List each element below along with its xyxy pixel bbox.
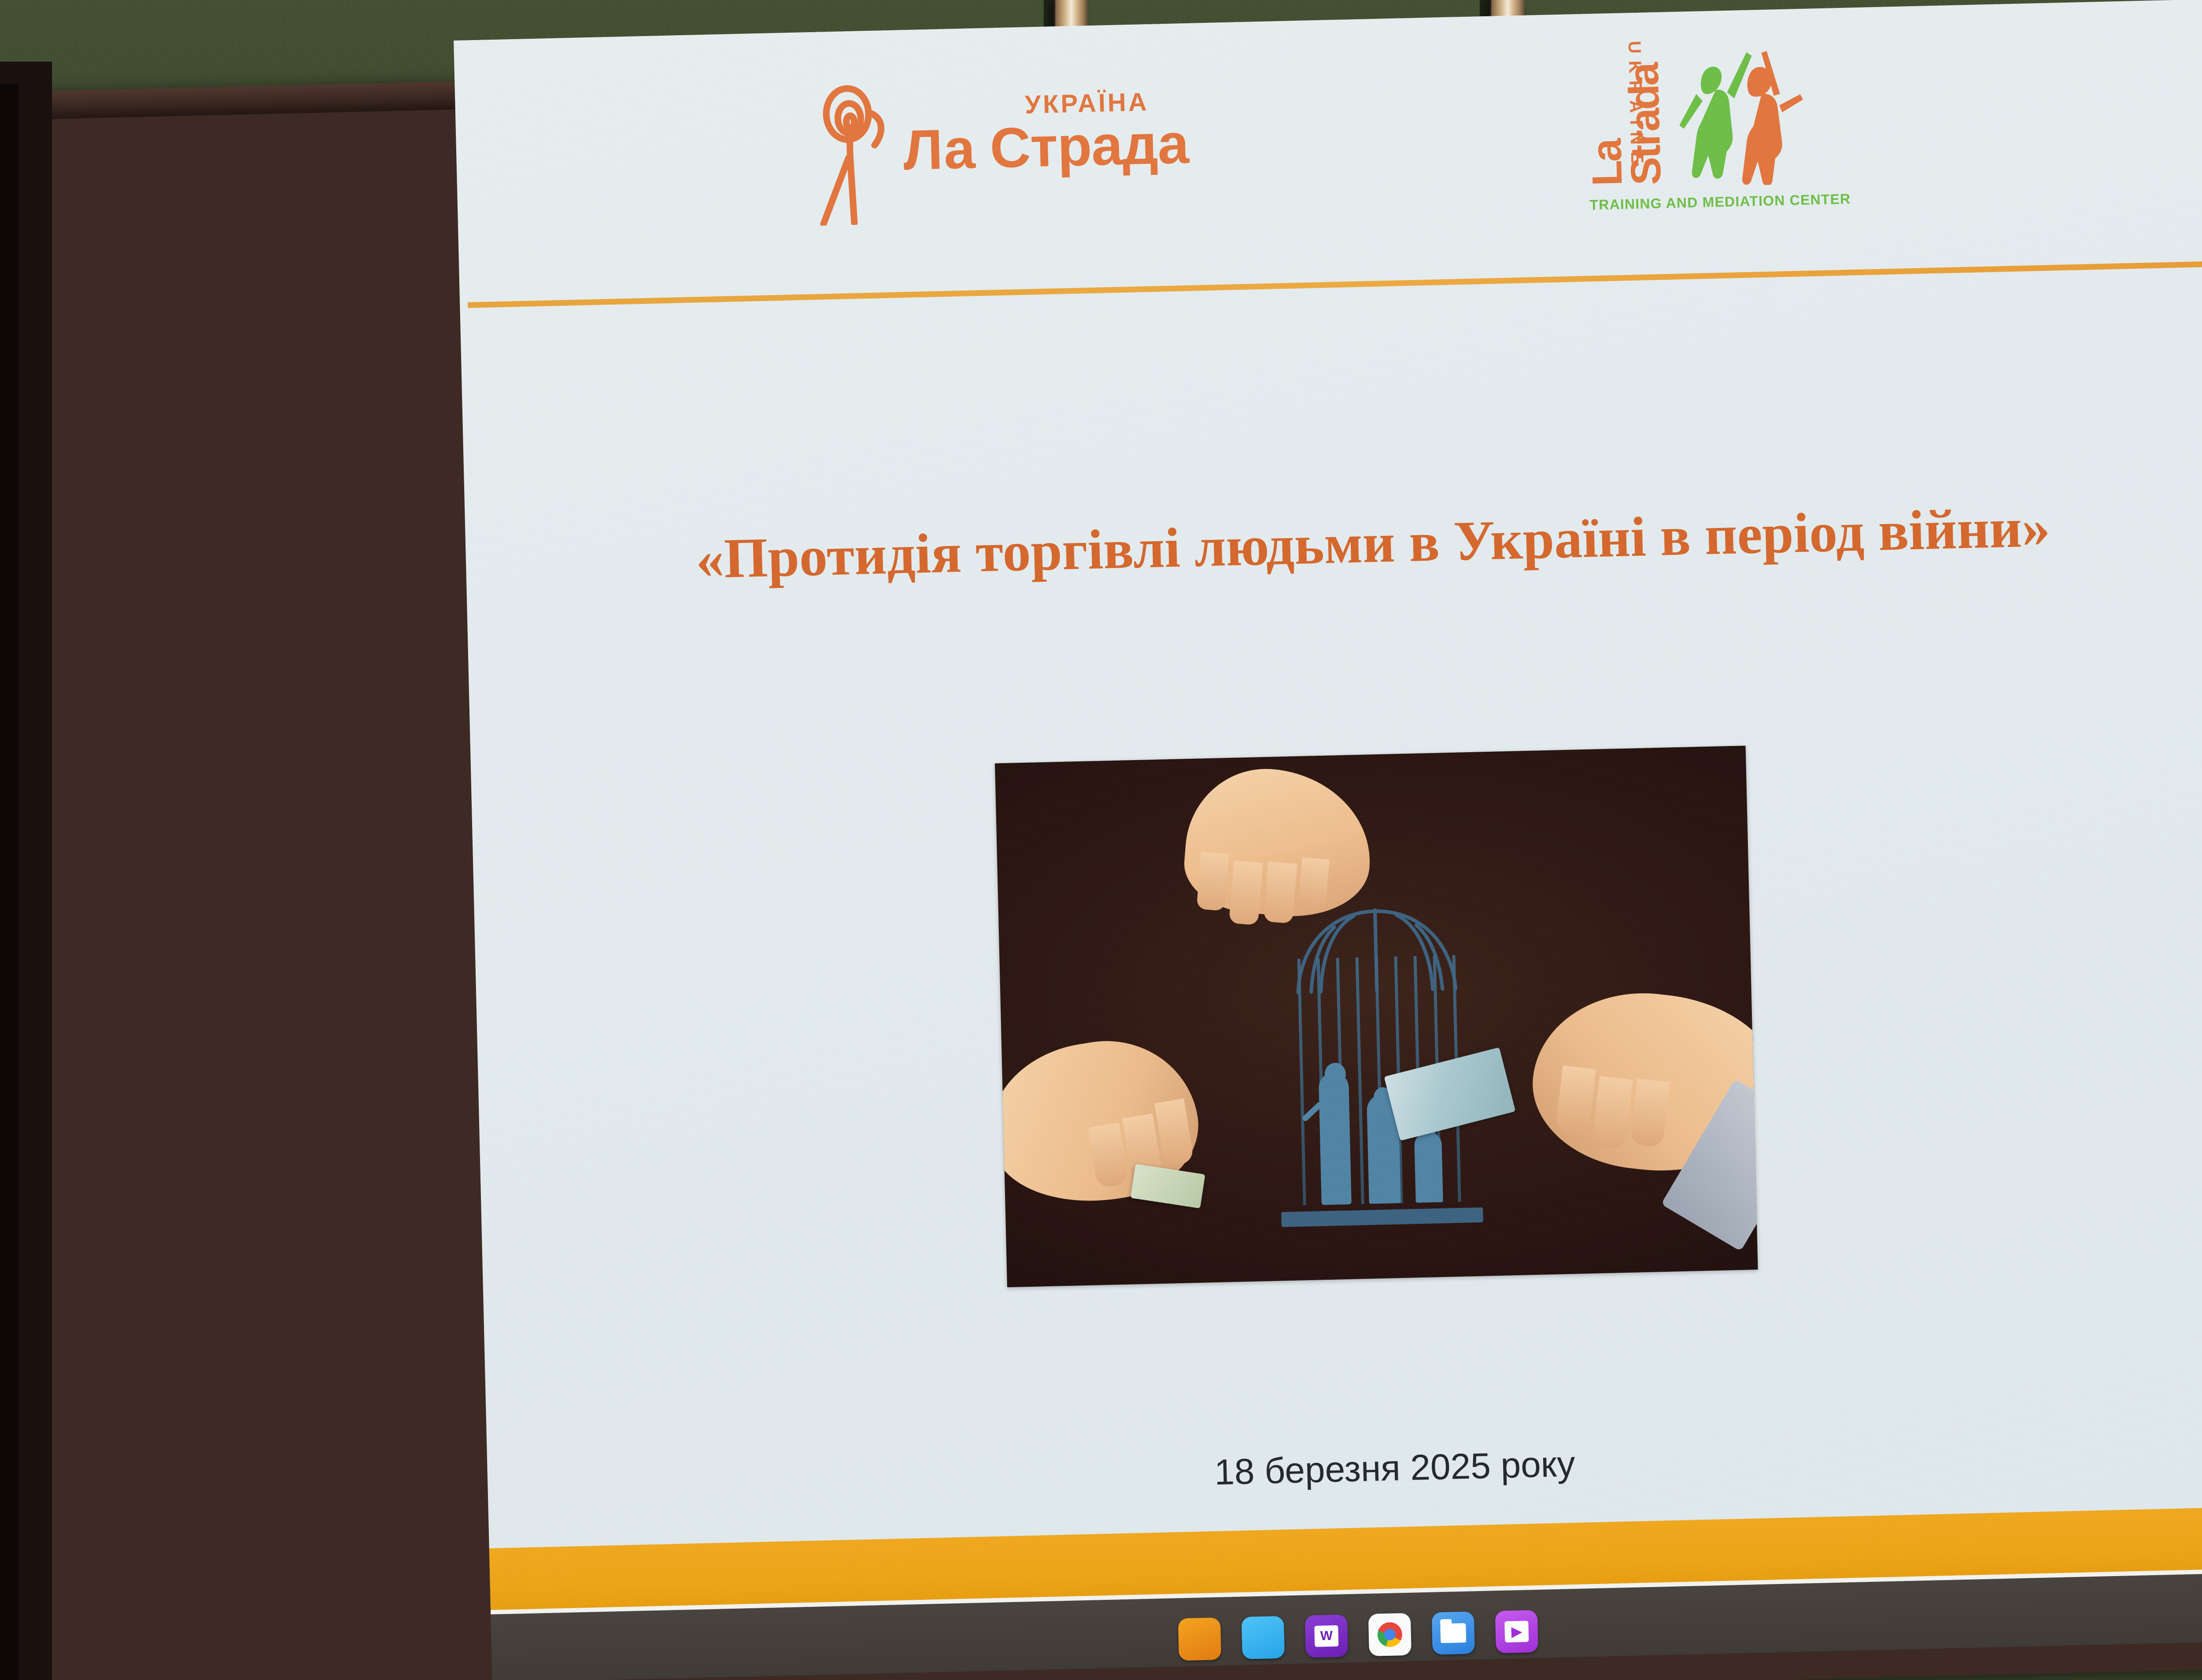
slide-date: 18 березня 2025 року	[487, 1426, 2202, 1510]
la-strada-tmc-logo: La Strada UKRAINE	[1581, 30, 1867, 230]
word-glyph: W	[1314, 1625, 1338, 1647]
la-strada-wordmark: УКРАЇНА Ла Страда	[902, 89, 1189, 179]
chrome-ring	[1377, 1622, 1402, 1647]
person-spiral-head-icon	[803, 83, 898, 226]
logo-row: УКРАЇНА Ла Страда La Strada UKRAINE	[454, 11, 2202, 432]
ppt-glyph: ▶	[1504, 1621, 1529, 1643]
teams-icon[interactable]	[1241, 1616, 1285, 1659]
la-strada-ukraine-logo: УКРАЇНА Ла Страда	[803, 75, 1246, 226]
powerpoint-icon[interactable]: ▶	[1495, 1610, 1538, 1653]
presentation-slide: УКРАЇНА Ла Страда La Strada UKRAINE	[454, 0, 2202, 1614]
two-dancing-figures-icon	[1660, 39, 1809, 188]
tmc-vertical-text: La Strada UKRAINE	[1581, 39, 1585, 188]
slide-title: «Протидія торгівлі людьми в Україні в пе…	[465, 491, 2202, 596]
logo-name-label: Ла Страда	[903, 116, 1190, 179]
taskbar-icon-group: W ▶	[1178, 1610, 1538, 1661]
slide-illustration	[995, 746, 1758, 1287]
room-scene: УКРАЇНА Ла Страда La Strada UKRAINE	[0, 0, 2202, 1680]
room-edge-darker	[0, 84, 18, 1680]
tmc-caption: TRAINING AND MEDIATION CENTER	[1589, 191, 1863, 214]
folder-glyph	[1440, 1623, 1466, 1643]
chrome-icon[interactable]	[1368, 1613, 1411, 1656]
chrome-core	[1384, 1629, 1396, 1641]
caged-figure-adult	[1319, 1072, 1352, 1205]
word-icon[interactable]: W	[1305, 1614, 1348, 1658]
tmc-country-label: UKRAINE	[1626, 41, 1647, 186]
files-icon[interactable]	[1178, 1617, 1221, 1661]
screen: УКРАЇНА Ла Страда La Strada UKRAINE	[454, 0, 2202, 1680]
file-explorer-icon[interactable]	[1432, 1611, 1475, 1654]
